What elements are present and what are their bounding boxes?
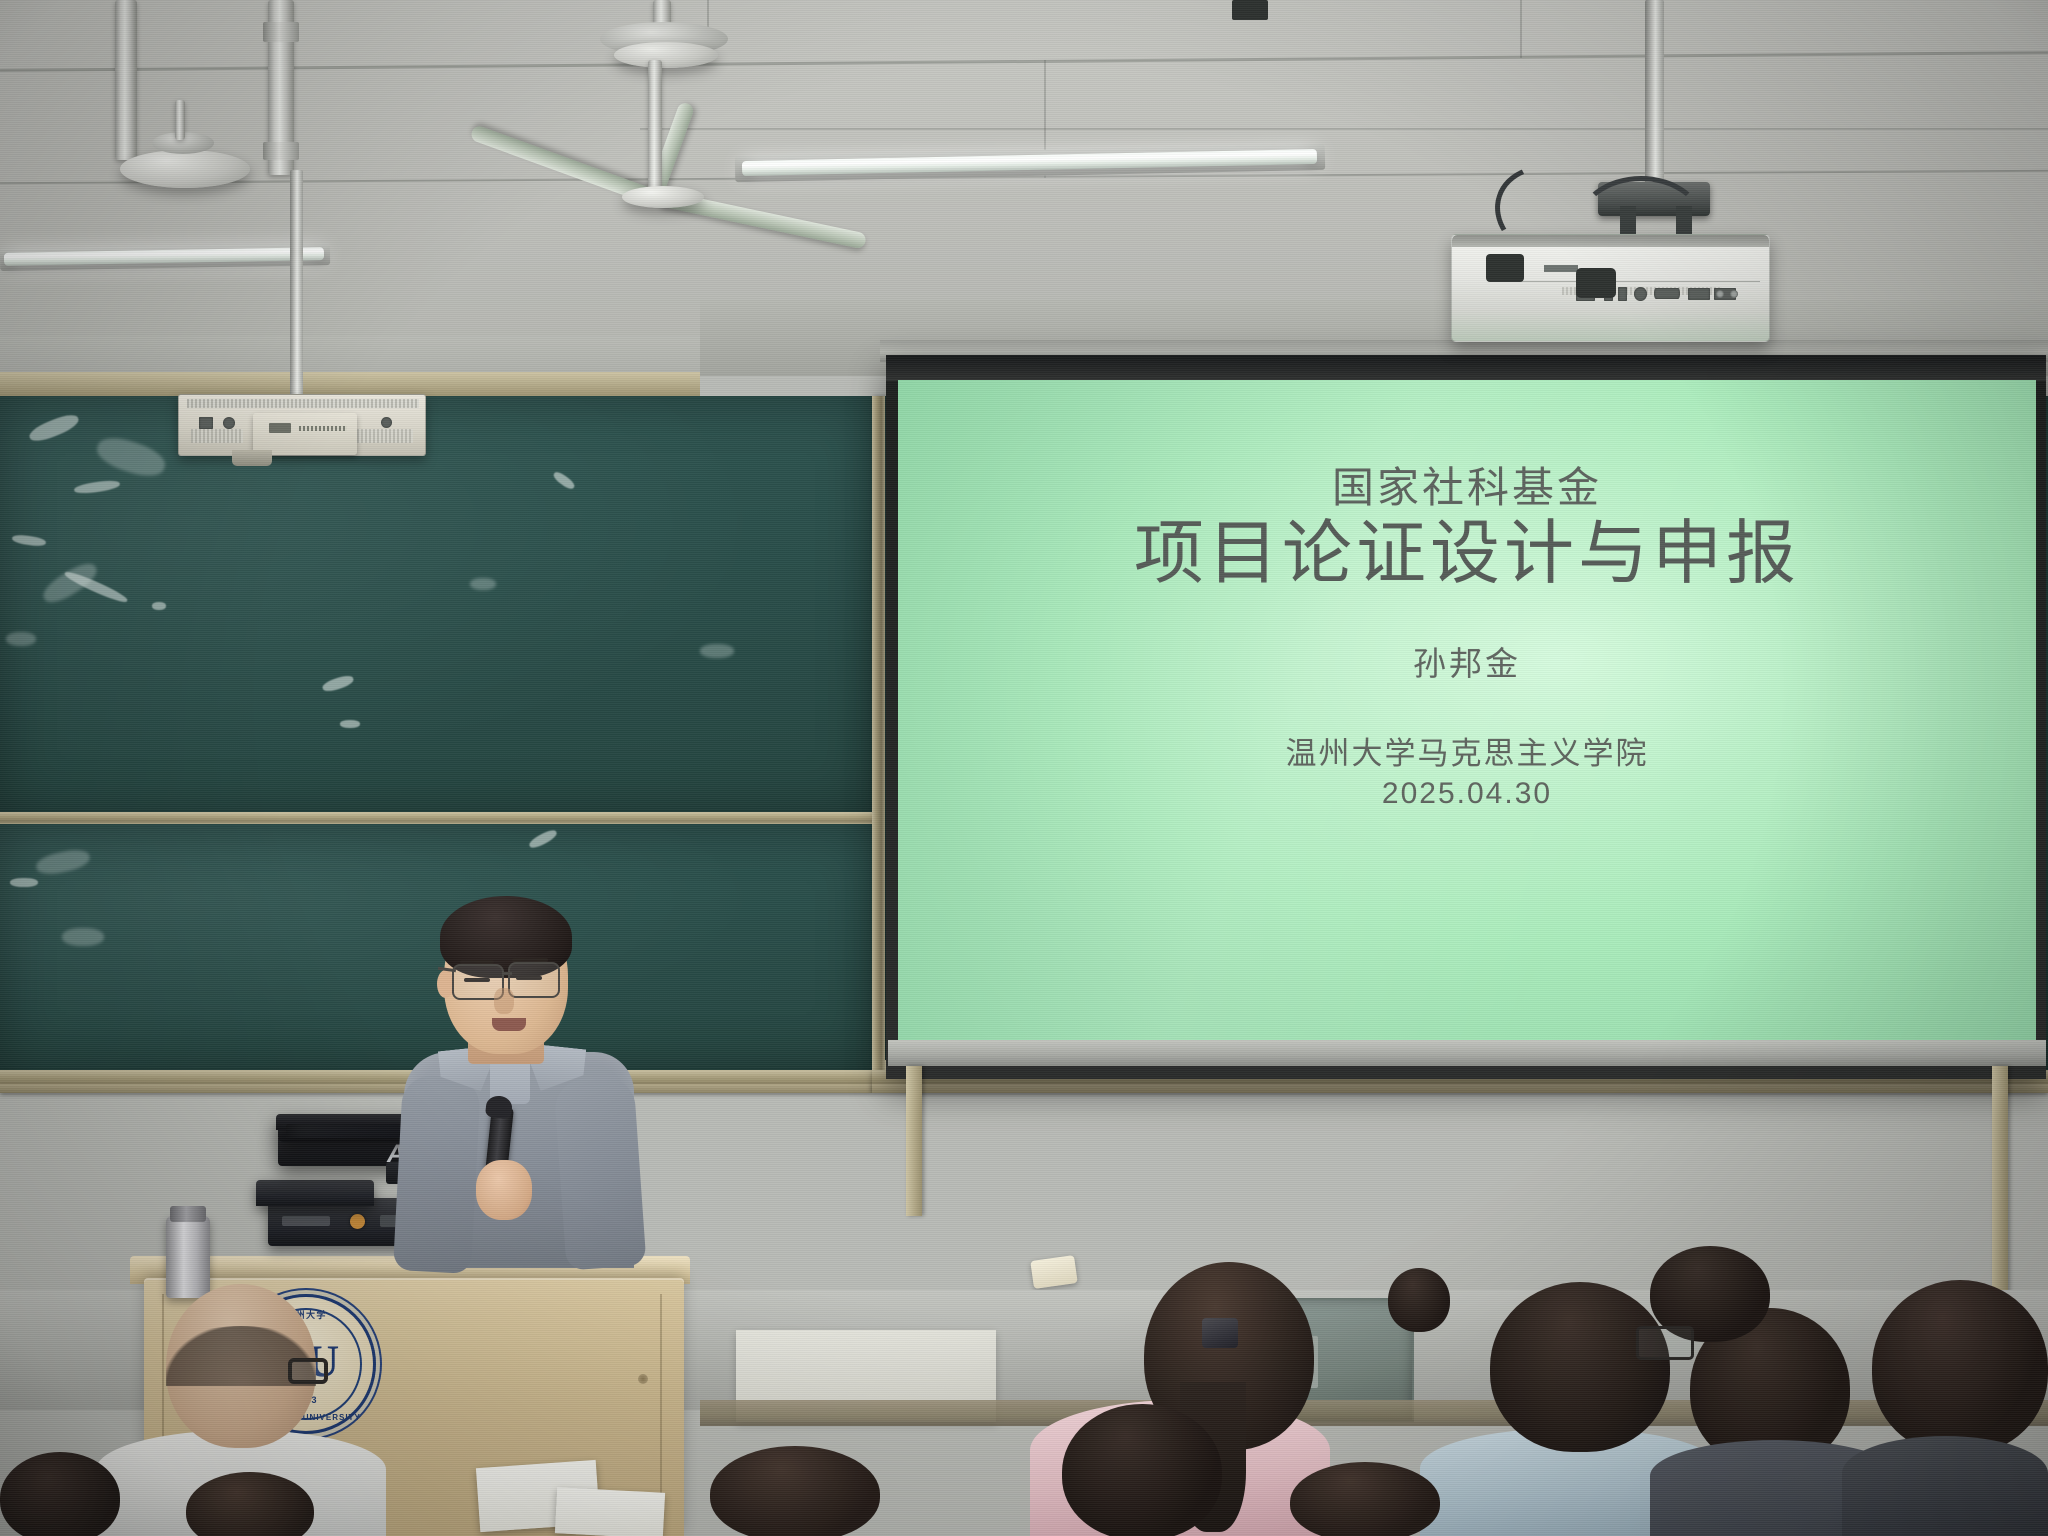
chalk-eraser-cloth [1030,1255,1077,1289]
blackboard-divider [872,396,885,1076]
podium-fastener [638,1374,648,1384]
bottle-cap [170,1206,206,1222]
blackboard-projector [178,394,426,456]
chalk-tray-lip [872,1084,2048,1093]
ceiling-fan-hub [120,150,250,188]
projector-cable [1576,176,1706,276]
slide-organization: 国家社科基金 [898,464,2036,512]
screen-bottom-bar [888,1040,2046,1066]
blackboard-upper-left [0,396,872,816]
audience-head [710,1446,880,1536]
audience-body [1842,1436,2048,1536]
screen-roller [886,355,2046,381]
presenter-hand [476,1160,532,1220]
eyeglasses-lens-right [508,962,560,998]
eyeglasses-bridge [502,972,512,975]
audience-head [0,1452,120,1536]
pendant-pipe [115,0,137,160]
audience-head [1290,1462,1440,1536]
presenter-arm-left [393,1074,481,1274]
ceiling-seam [0,51,2048,72]
audience-head [1872,1280,2048,1454]
water-bottle [166,1216,210,1298]
blackboard-lower-left [0,824,872,1072]
audience-head [1388,1268,1450,1332]
audience-head [1490,1282,1670,1452]
projected-slide: 国家社科基金 项目论证设计与申报 孙邦金 温州大学马克思主义学院 2025.04… [898,380,2036,1044]
slide-date: 2025.04.30 [898,777,2036,811]
pipe-collar [263,142,299,160]
slide-title: 项目论证设计与申报 [898,514,2036,592]
audience-head [1062,1404,1222,1536]
slide-institution: 温州大学马克思主义学院 [898,731,2036,778]
ceiling-fan-hub [614,42,718,68]
projector-cable-plug [1576,268,1616,298]
fan-downrod [175,100,185,140]
lecture-hall-photo: 国家社科基金 项目论证设计与申报 孙邦金 温州大学马克思主义学院 2025.04… [0,0,2048,1536]
ceiling-seam [1520,0,1522,58]
board-post [906,1066,922,1216]
projector-cable-plug [1486,254,1524,282]
presenter-nose [494,988,514,1014]
handout-paper [555,1487,665,1536]
hair-clip [1202,1318,1238,1348]
projector-mount-pole-left [290,170,303,396]
board-post [1992,1066,2008,1296]
fan-downrod [648,60,662,200]
projector-lens-shroud [232,450,272,466]
audience-eyeglasses [1636,1326,1694,1360]
slide-text-block: 国家社科基金 项目论证设计与申报 孙邦金 温州大学马克思主义学院 2025.04… [898,380,2036,811]
cable-clip [1232,0,1268,20]
ceiling-fan-motor [622,186,704,208]
ceiling-seam [640,128,2048,130]
desk-control-lid [256,1180,374,1206]
presenter-arm-right [553,1075,646,1270]
pipe-collar [263,22,299,42]
projector-mount-pole [1645,0,1664,188]
audience-eyeglasses [288,1358,328,1384]
presenter-mouth [492,1018,526,1031]
slide-author: 孙邦金 [898,637,2036,685]
